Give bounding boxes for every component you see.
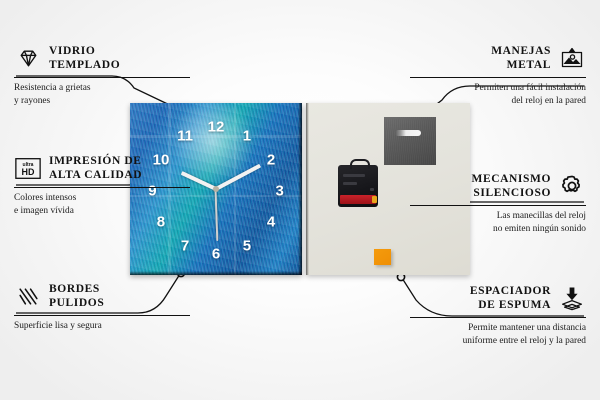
feature-title: MANEJAS METAL: [491, 44, 551, 73]
feature-header: MECANISMO SILENCIOSO: [410, 170, 586, 202]
clock-front-bottom-shadow: [130, 271, 302, 275]
feature-title-line: BORDES: [49, 283, 100, 295]
feature-title-line: DE ESPUMA: [478, 299, 551, 311]
feature-title: VIDRIO TEMPLADO: [49, 44, 120, 73]
feature-desc-line: Permite mantener una distancia: [468, 323, 586, 333]
feature-description: Las manecillas del reloj no emiten ningú…: [410, 210, 586, 235]
feature-description: Permite mantener una distancia uniforme …: [410, 322, 586, 347]
feature-vidrio-templado: VIDRIO TEMPLADO Resistencia a grietas y …: [14, 42, 190, 108]
feature-desc-line: Colores intensos: [14, 193, 76, 203]
svg-text:HD: HD: [22, 167, 35, 177]
feature-divider: [14, 187, 190, 188]
clock-numeral-2: 2: [267, 152, 275, 167]
feature-title-line: MECANISMO: [471, 173, 551, 185]
feature-title-line: VIDRIO: [49, 45, 95, 57]
feature-title-line: ESPACIADOR: [470, 285, 551, 297]
mechanism-detail: [343, 182, 357, 185]
product-feature-infographic: 12 1 2 3 4 5 6 7 8 9 10 11: [0, 0, 600, 400]
feature-manejas-metal: MANEJAS METAL Permiten una fácil instala…: [410, 42, 586, 108]
feature-mecanismo-silencioso: MECANISMO SILENCIOSO Las manecillas del …: [410, 170, 586, 236]
mechanism-hanging-lug: [350, 159, 370, 169]
clock-numeral-3: 3: [275, 183, 283, 198]
feature-description: Permiten una fácil instalación del reloj…: [410, 82, 586, 107]
feature-espaciador-espuma: ESPACIADOR DE ESPUMA Permite mantener un…: [410, 282, 586, 348]
feature-desc-line: Permiten una fácil instalación: [474, 83, 586, 93]
clock-numeral-5: 5: [243, 238, 251, 253]
clock-center-cap: [213, 186, 219, 192]
gear-icon: [558, 172, 586, 200]
ultra-hd-icon: ultra HD: [14, 154, 42, 182]
clock-numeral-11: 11: [177, 128, 193, 143]
foam-spacer-pad: [374, 249, 391, 265]
feature-desc-line: Las manecillas del reloj: [497, 211, 586, 221]
mechanism-detail: [343, 174, 365, 177]
feature-desc-line: Superficie lisa y segura: [14, 321, 102, 331]
feature-desc-line: e imagen vívida: [14, 206, 74, 216]
feature-title-line: ALTA CALIDAD: [49, 169, 142, 181]
picture-hanger-icon: [558, 44, 586, 72]
feature-title: IMPRESIÓN DE ALTA CALIDAD: [49, 154, 142, 183]
feature-impresion-alta-calidad: ultra HD IMPRESIÓN DE ALTA CALIDAD Color…: [14, 152, 190, 218]
clock-minute-hand: [215, 164, 261, 191]
polished-edges-icon: [14, 282, 42, 310]
hanger-keyhole-slot: [395, 130, 421, 136]
feature-desc-line: del reloj en la pared: [512, 96, 586, 106]
clock-front-right-edge: [298, 103, 302, 275]
feature-divider: [14, 77, 190, 78]
feature-divider: [410, 317, 586, 318]
feature-divider: [410, 205, 586, 206]
feature-header: ultra HD IMPRESIÓN DE ALTA CALIDAD: [14, 152, 190, 184]
clock-mechanism-module: [338, 165, 378, 207]
metal-hanger-bracket: [384, 117, 436, 165]
feature-desc-line: uniforme entre el reloj y la pared: [463, 336, 586, 346]
feature-title-line: MANEJAS: [491, 45, 551, 57]
feature-divider: [14, 315, 190, 316]
clock-numeral-4: 4: [267, 214, 275, 229]
feature-bordes-pulidos: BORDES PULIDOS Superficie lisa y segura: [14, 280, 190, 333]
mechanism-detail: [370, 188, 374, 191]
clock-back-left-edge: [306, 103, 309, 275]
feature-header: MANEJAS METAL: [410, 42, 586, 74]
feature-desc-line: no emiten ningún sonido: [493, 224, 586, 234]
clock-numeral-12: 12: [208, 120, 225, 135]
feature-divider: [410, 77, 586, 78]
feature-title: MECANISMO SILENCIOSO: [471, 172, 551, 201]
feature-desc-line: y rayones: [14, 96, 50, 106]
feature-title-line: METAL: [507, 59, 551, 71]
mechanism-battery: [340, 195, 376, 204]
feature-title-line: TEMPLADO: [49, 59, 120, 71]
feature-description: Superficie lisa y segura: [14, 320, 190, 333]
feature-desc-line: Resistencia a grietas: [14, 83, 91, 93]
diamond-icon: [14, 44, 42, 72]
clock-numeral-1: 1: [243, 128, 251, 143]
feature-description: Resistencia a grietas y rayones: [14, 82, 190, 107]
mechanism-battery-terminal: [372, 196, 377, 203]
feature-title-line: PULIDOS: [49, 297, 104, 309]
feature-title: BORDES PULIDOS: [49, 282, 104, 311]
feature-header: BORDES PULIDOS: [14, 280, 190, 312]
feature-title: ESPACIADOR DE ESPUMA: [470, 284, 551, 313]
feature-description: Colores intensos e imagen vívida: [14, 192, 190, 217]
feature-title-line: IMPRESIÓN DE: [49, 155, 142, 167]
feature-title-line: SILENCIOSO: [473, 187, 551, 199]
face-grid-line: [234, 103, 236, 275]
clock-numeral-6: 6: [212, 247, 220, 262]
feature-header: ESPACIADOR DE ESPUMA: [410, 282, 586, 314]
feature-header: VIDRIO TEMPLADO: [14, 42, 190, 74]
foam-spacer-icon: [558, 284, 586, 312]
clock-numeral-7: 7: [181, 238, 189, 253]
